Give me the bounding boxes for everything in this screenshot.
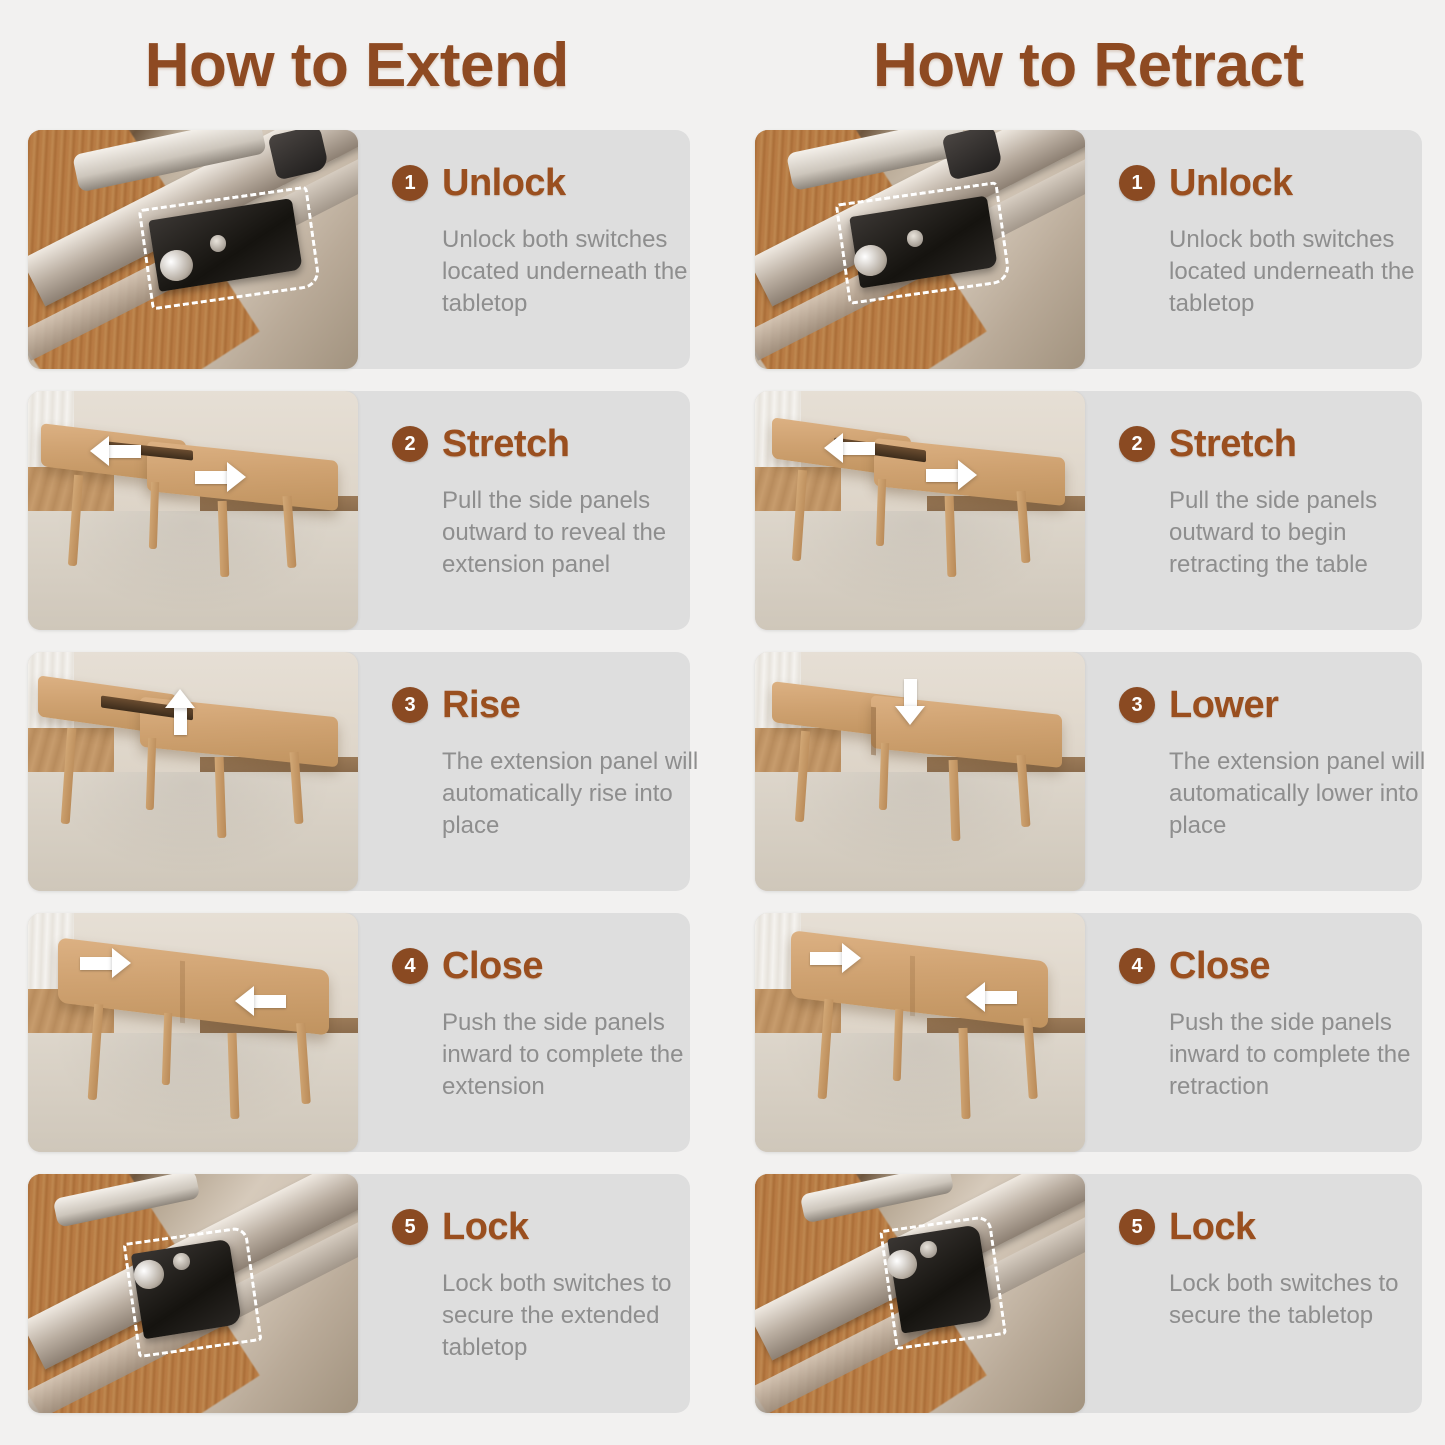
step-card-extend-4: 4 Close Push the side panels inward to c…	[0, 913, 722, 1152]
step-text: 4 Close Push the side panels inward to c…	[1119, 913, 1419, 1152]
instruction-infographic: How to Extend How to Retract	[0, 0, 1445, 1445]
step-number-badge: 5	[1119, 1209, 1155, 1245]
step-card-extend-5: 5 Lock Lock both switches to secure the …	[0, 1174, 722, 1413]
step-title: Lower	[1169, 686, 1278, 724]
step-text: 2 Stretch Pull the side panels outward t…	[1119, 391, 1419, 630]
step-card-retract-3: 3 Lower The extension panel will automat…	[722, 652, 1445, 891]
step-card-extend-1: 1 Unlock Unlock both switches located un…	[0, 130, 722, 369]
step-image-panels-pulled-apart	[28, 391, 358, 630]
step-image-lock-switch-locked	[755, 1174, 1085, 1413]
step-number-badge: 1	[1119, 165, 1155, 201]
step-title: Rise	[442, 686, 520, 724]
retract-column: 1 Unlock Unlock both switches located un…	[722, 130, 1445, 1435]
step-number-badge: 2	[1119, 426, 1155, 462]
step-image-lock-switch-locked	[28, 1174, 358, 1413]
step-card-extend-3: 3 Rise The extension panel will automati…	[0, 652, 722, 891]
step-description: Pull the side panels outward to reveal t…	[442, 485, 707, 581]
step-image-table-closed	[28, 913, 358, 1152]
step-text: 2 Stretch Pull the side panels outward t…	[392, 391, 692, 630]
step-number-badge: 4	[1119, 948, 1155, 984]
step-text: 5 Lock Lock both switches to secure the …	[1119, 1174, 1419, 1413]
step-title: Unlock	[1169, 164, 1293, 202]
step-description: Pull the side panels outward to begin re…	[1169, 485, 1444, 581]
step-text: 5 Lock Lock both switches to secure the …	[392, 1174, 692, 1413]
step-number-badge: 5	[392, 1209, 428, 1245]
step-number-badge: 3	[392, 687, 428, 723]
step-number-badge: 4	[392, 948, 428, 984]
extend-column: 1 Unlock Unlock both switches located un…	[0, 130, 722, 1435]
step-description: The extension panel will automatically r…	[442, 746, 707, 842]
steps-columns: 1 Unlock Unlock both switches located un…	[0, 130, 1445, 1435]
step-text: 1 Unlock Unlock both switches located un…	[392, 130, 692, 369]
step-title: Lock	[1169, 1208, 1256, 1246]
step-card-extend-2: 2 Stretch Pull the side panels outward t…	[0, 391, 722, 630]
step-number-badge: 1	[392, 165, 428, 201]
step-text: 3 Rise The extension panel will automati…	[392, 652, 692, 891]
highlight-dashed-outline	[123, 1226, 263, 1358]
step-description: Lock both switches to secure the tableto…	[1169, 1268, 1444, 1332]
step-title: Unlock	[442, 164, 566, 202]
step-text: 1 Unlock Unlock both switches located un…	[1119, 130, 1419, 369]
column-titles: How to Extend How to Retract	[0, 0, 1445, 130]
step-image-extension-panel-lowering	[755, 652, 1085, 891]
step-description: Push the side panels inward to complete …	[442, 1007, 707, 1103]
step-description: The extension panel will automatically l…	[1169, 746, 1444, 842]
step-card-retract-5: 5 Lock Lock both switches to secure the …	[722, 1174, 1445, 1413]
step-description: Unlock both switches located underneath …	[442, 224, 707, 320]
step-description: Push the side panels inward to complete …	[1169, 1007, 1444, 1103]
step-image-extension-panel-rising	[28, 652, 358, 891]
step-title: Stretch	[442, 425, 569, 463]
step-image-lock-switch-closeup	[755, 130, 1085, 369]
retract-column-title: How to Retract	[726, 0, 1445, 130]
extend-column-title: How to Extend	[0, 0, 726, 130]
step-title: Stretch	[1169, 425, 1296, 463]
step-image-lock-switch-closeup	[28, 130, 358, 369]
step-card-retract-1: 1 Unlock Unlock both switches located un…	[722, 130, 1445, 369]
step-card-retract-2: 2 Stretch Pull the side panels outward t…	[722, 391, 1445, 630]
step-description: Unlock both switches located underneath …	[1169, 224, 1444, 320]
step-title: Close	[1169, 947, 1270, 985]
step-text: 4 Close Push the side panels inward to c…	[392, 913, 692, 1152]
step-text: 3 Lower The extension panel will automat…	[1119, 652, 1419, 891]
step-description: Lock both switches to secure the extende…	[442, 1268, 707, 1364]
step-image-table-closed	[755, 913, 1085, 1152]
step-title: Close	[442, 947, 543, 985]
step-number-badge: 3	[1119, 687, 1155, 723]
step-number-badge: 2	[392, 426, 428, 462]
step-card-retract-4: 4 Close Push the side panels inward to c…	[722, 913, 1445, 1152]
step-title: Lock	[442, 1208, 529, 1246]
step-image-panels-pulled-apart	[755, 391, 1085, 630]
highlight-dashed-outline	[879, 1215, 1006, 1350]
